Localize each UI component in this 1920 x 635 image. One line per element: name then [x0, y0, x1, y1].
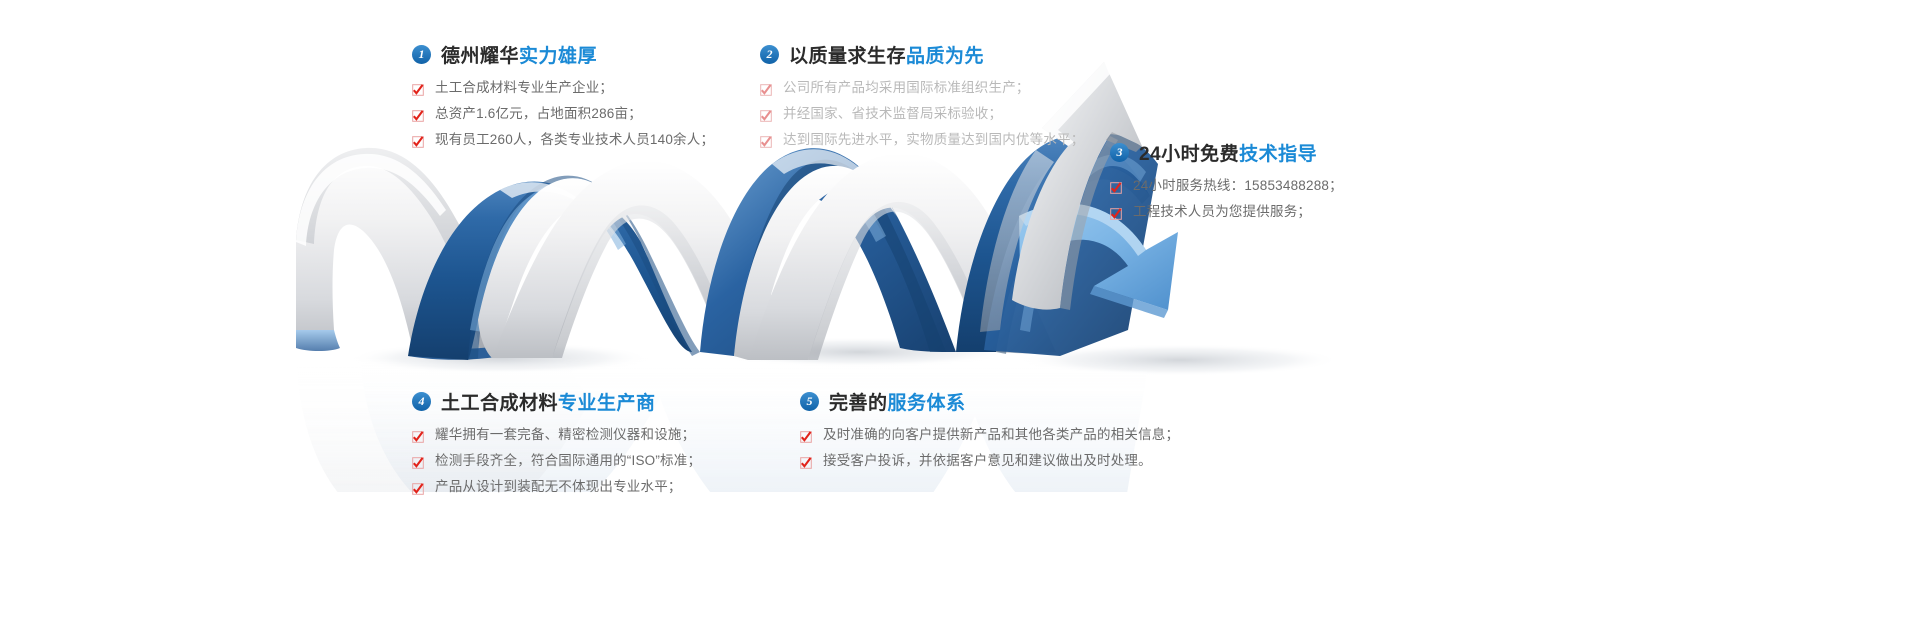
- list-item: 接受客户投诉，并依据客户意见和建议做出及时处理。: [800, 454, 1179, 469]
- list-item: 总资产1.6亿元，占地面积286亩；: [412, 107, 714, 122]
- list-item-text: 工程技术人员为您提供服务；: [1133, 205, 1311, 220]
- list-item-text: 总资产1.6亿元，占地面积286亩；: [435, 107, 642, 122]
- list-item-text: 土工合成材料专业生产企业；: [435, 81, 613, 96]
- check-icon: [800, 431, 812, 443]
- feature-block-1: 1 德州耀华 实力雄厚 土工合成材料专业生产企业； 总资产1.6亿元，占地面积2…: [412, 41, 714, 159]
- heading-dark-text: 完善的: [829, 388, 888, 415]
- check-icon: [412, 457, 424, 469]
- list-item-text: 现有员工260人，各类专业技术人员140余人；: [435, 133, 714, 148]
- feature-block-4: 4 土工合成材料 专业生产商 耀华拥有一套完备、精密检测仪器和设施； 检测手段齐…: [412, 388, 701, 506]
- heading-accent-text: 专业生产商: [558, 388, 656, 415]
- feature-block-5: 5 完善的 服务体系 及时准确的向客户提供新产品和其他各类产品的相关信息； 接受…: [800, 388, 1179, 480]
- list-item: 达到国际先进水平，实物质量达到国内优等水平；: [760, 133, 1084, 148]
- check-icon: [760, 84, 772, 96]
- list-item: 现有员工260人，各类专业技术人员140余人；: [412, 133, 714, 148]
- feature-bullet-list: 耀华拥有一套完备、精密检测仪器和设施； 检测手段齐全，符合国际通用的“ISO”标…: [412, 428, 701, 495]
- check-icon: [412, 431, 424, 443]
- check-icon: [800, 457, 812, 469]
- heading-dark-text: 24小时免费: [1139, 139, 1239, 166]
- list-item: 公司所有产品均采用国际标准组织生产；: [760, 81, 1084, 96]
- check-icon: [412, 136, 424, 148]
- banner-stage: 1 德州耀华 实力雄厚 土工合成材料专业生产企业； 总资产1.6亿元，占地面积2…: [0, 0, 1920, 635]
- feature-block-2: 2 以质量求生存 品质为先 公司所有产品均采用国际标准组织生产； 并经国家、省技…: [760, 41, 1084, 159]
- feature-heading: 2 以质量求生存 品质为先: [760, 41, 1084, 68]
- list-item-text: 24小时服务热线：15853488288；: [1133, 179, 1343, 194]
- heading-accent-text: 服务体系: [888, 388, 966, 415]
- heading-dark-text: 德州耀华: [441, 41, 519, 68]
- feature-bullet-list: 及时准确的向客户提供新产品和其他各类产品的相关信息； 接受客户投诉，并依据客户意…: [800, 428, 1179, 469]
- check-icon: [412, 483, 424, 495]
- list-item: 产品从设计到装配无不体现出专业水平；: [412, 480, 701, 495]
- list-item: 耀华拥有一套完备、精密检测仪器和设施；: [412, 428, 701, 443]
- list-item: 工程技术人员为您提供服务；: [1110, 205, 1343, 220]
- check-icon: [760, 110, 772, 122]
- badge-number: 2: [760, 45, 779, 64]
- feature-bullet-list: 土工合成材料专业生产企业； 总资产1.6亿元，占地面积286亩； 现有员工260…: [412, 81, 714, 148]
- check-icon: [412, 110, 424, 122]
- list-item-text: 及时准确的向客户提供新产品和其他各类产品的相关信息；: [823, 428, 1179, 443]
- check-icon: [760, 136, 772, 148]
- heading-dark-text: 土工合成材料: [441, 388, 558, 415]
- feature-bullet-list: 24小时服务热线：15853488288； 工程技术人员为您提供服务；: [1110, 179, 1343, 220]
- badge-number: 3: [1110, 143, 1129, 162]
- list-item-text: 耀华拥有一套完备、精密检测仪器和设施；: [435, 428, 695, 443]
- list-item-text: 检测手段齐全，符合国际通用的“ISO”标准；: [435, 454, 701, 469]
- badge-number: 4: [412, 392, 431, 411]
- list-item-text: 达到国际先进水平，实物质量达到国内优等水平；: [783, 133, 1084, 148]
- heading-accent-text: 实力雄厚: [519, 41, 597, 68]
- feature-heading: 1 德州耀华 实力雄厚: [412, 41, 714, 68]
- feature-bullet-list: 公司所有产品均采用国际标准组织生产； 并经国家、省技术监督局采标验收； 达到国际…: [760, 81, 1084, 148]
- list-item: 并经国家、省技术监督局采标验收；: [760, 107, 1084, 122]
- list-item: 及时准确的向客户提供新产品和其他各类产品的相关信息；: [800, 428, 1179, 443]
- badge-number: 5: [800, 392, 819, 411]
- list-item: 24小时服务热线：15853488288；: [1110, 179, 1343, 194]
- list-item-text: 接受客户投诉，并依据客户意见和建议做出及时处理。: [823, 454, 1152, 469]
- list-item: 检测手段齐全，符合国际通用的“ISO”标准；: [412, 454, 701, 469]
- feature-heading: 5 完善的 服务体系: [800, 388, 1179, 415]
- feature-heading: 3 24小时免费 技术指导: [1110, 139, 1343, 166]
- heading-accent-text: 品质为先: [906, 41, 984, 68]
- heading-dark-text: 以质量求生存: [789, 41, 906, 68]
- check-icon: [412, 84, 424, 96]
- list-item-text: 并经国家、省技术监督局采标验收；: [783, 107, 1002, 122]
- list-item: 土工合成材料专业生产企业；: [412, 81, 714, 96]
- feature-heading: 4 土工合成材料 专业生产商: [412, 388, 701, 415]
- badge-number: 1: [412, 45, 431, 64]
- list-item-text: 公司所有产品均采用国际标准组织生产；: [783, 81, 1030, 96]
- check-icon: [1110, 182, 1122, 194]
- feature-block-3: 3 24小时免费 技术指导 24小时服务热线：15853488288； 工程技术…: [1110, 139, 1343, 231]
- heading-accent-text: 技术指导: [1239, 139, 1317, 166]
- list-item-text: 产品从设计到装配无不体现出专业水平；: [435, 480, 682, 495]
- check-icon: [1110, 208, 1122, 220]
